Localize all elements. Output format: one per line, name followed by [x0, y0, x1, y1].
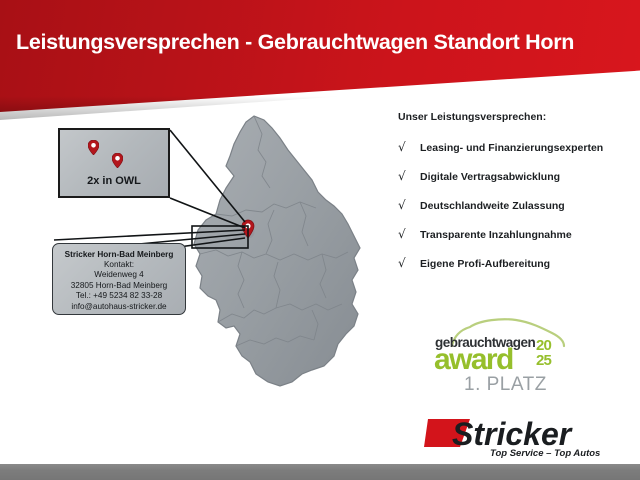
award-badge: gebrauchtwagen award 20 25 1. PLATZ — [432, 318, 580, 396]
header-banner — [0, 0, 640, 112]
promise-label: Digitale Vertragsabwicklung — [420, 170, 560, 184]
checkmark-icon: √ — [398, 199, 420, 212]
list-item: √ Digitale Vertragsabwicklung — [398, 170, 636, 184]
checkmark-icon: √ — [398, 228, 420, 241]
page-title: Leistungsversprechen - Gebrauchtwagen St… — [16, 30, 632, 55]
award-rank: 1. PLATZ — [464, 374, 547, 396]
list-item: √ Transparente Inzahlungnahme — [398, 228, 636, 242]
award-year-bottom: 25 — [536, 353, 551, 368]
germany-map — [176, 104, 376, 396]
checkmark-icon: √ — [398, 170, 420, 183]
award-year-top: 20 — [536, 338, 551, 353]
promise-label: Deutschlandweite Zulassung — [420, 199, 565, 213]
contact-name: Stricker Horn-Bad Meinberg — [57, 249, 181, 260]
owl-callout-label: 2x in OWL — [60, 175, 168, 187]
contact-line-phone: Tel.: +49 5234 82 33-28 — [57, 291, 181, 301]
map-pin-icon — [112, 153, 123, 168]
service-promises-list: Unser Leistungsversprechen: √ Leasing- u… — [398, 111, 636, 286]
list-item: √ Eigene Profi-Aufbereitung — [398, 257, 636, 271]
checkmark-icon: √ — [398, 257, 420, 270]
contact-line-city: 32805 Horn-Bad Meinberg — [57, 281, 181, 291]
footer-bar — [0, 464, 640, 480]
contact-line-email: info@autohaus-stricker.de — [57, 302, 181, 312]
contact-info-box: Stricker Horn-Bad Meinberg Kontakt: Weid… — [52, 243, 186, 315]
award-word: award — [434, 344, 513, 376]
contact-line-street: Weidenweg 4 — [57, 270, 181, 280]
checkmark-icon: √ — [398, 141, 420, 154]
stricker-tagline: Top Service – Top Autos — [490, 448, 600, 459]
list-item: √ Deutschlandweite Zulassung — [398, 199, 636, 213]
list-item: √ Leasing- und Finanzierungsexperten — [398, 141, 636, 155]
slide-canvas: Leistungsversprechen - Gebrauchtwagen St… — [0, 0, 640, 480]
contact-line-kontakt: Kontakt: — [57, 260, 181, 270]
promise-label: Eigene Profi-Aufbereitung — [420, 257, 550, 271]
promises-heading: Unser Leistungsversprechen: — [398, 111, 636, 123]
promise-label: Transparente Inzahlungnahme — [420, 228, 572, 242]
owl-callout-box: 2x in OWL — [58, 128, 170, 198]
stricker-wordmark: Stricker — [452, 416, 573, 452]
promise-label: Leasing- und Finanzierungsexperten — [420, 141, 603, 155]
map-pin-icon — [88, 140, 99, 155]
stricker-logo: Stricker Top Service – Top Autos — [424, 409, 628, 461]
